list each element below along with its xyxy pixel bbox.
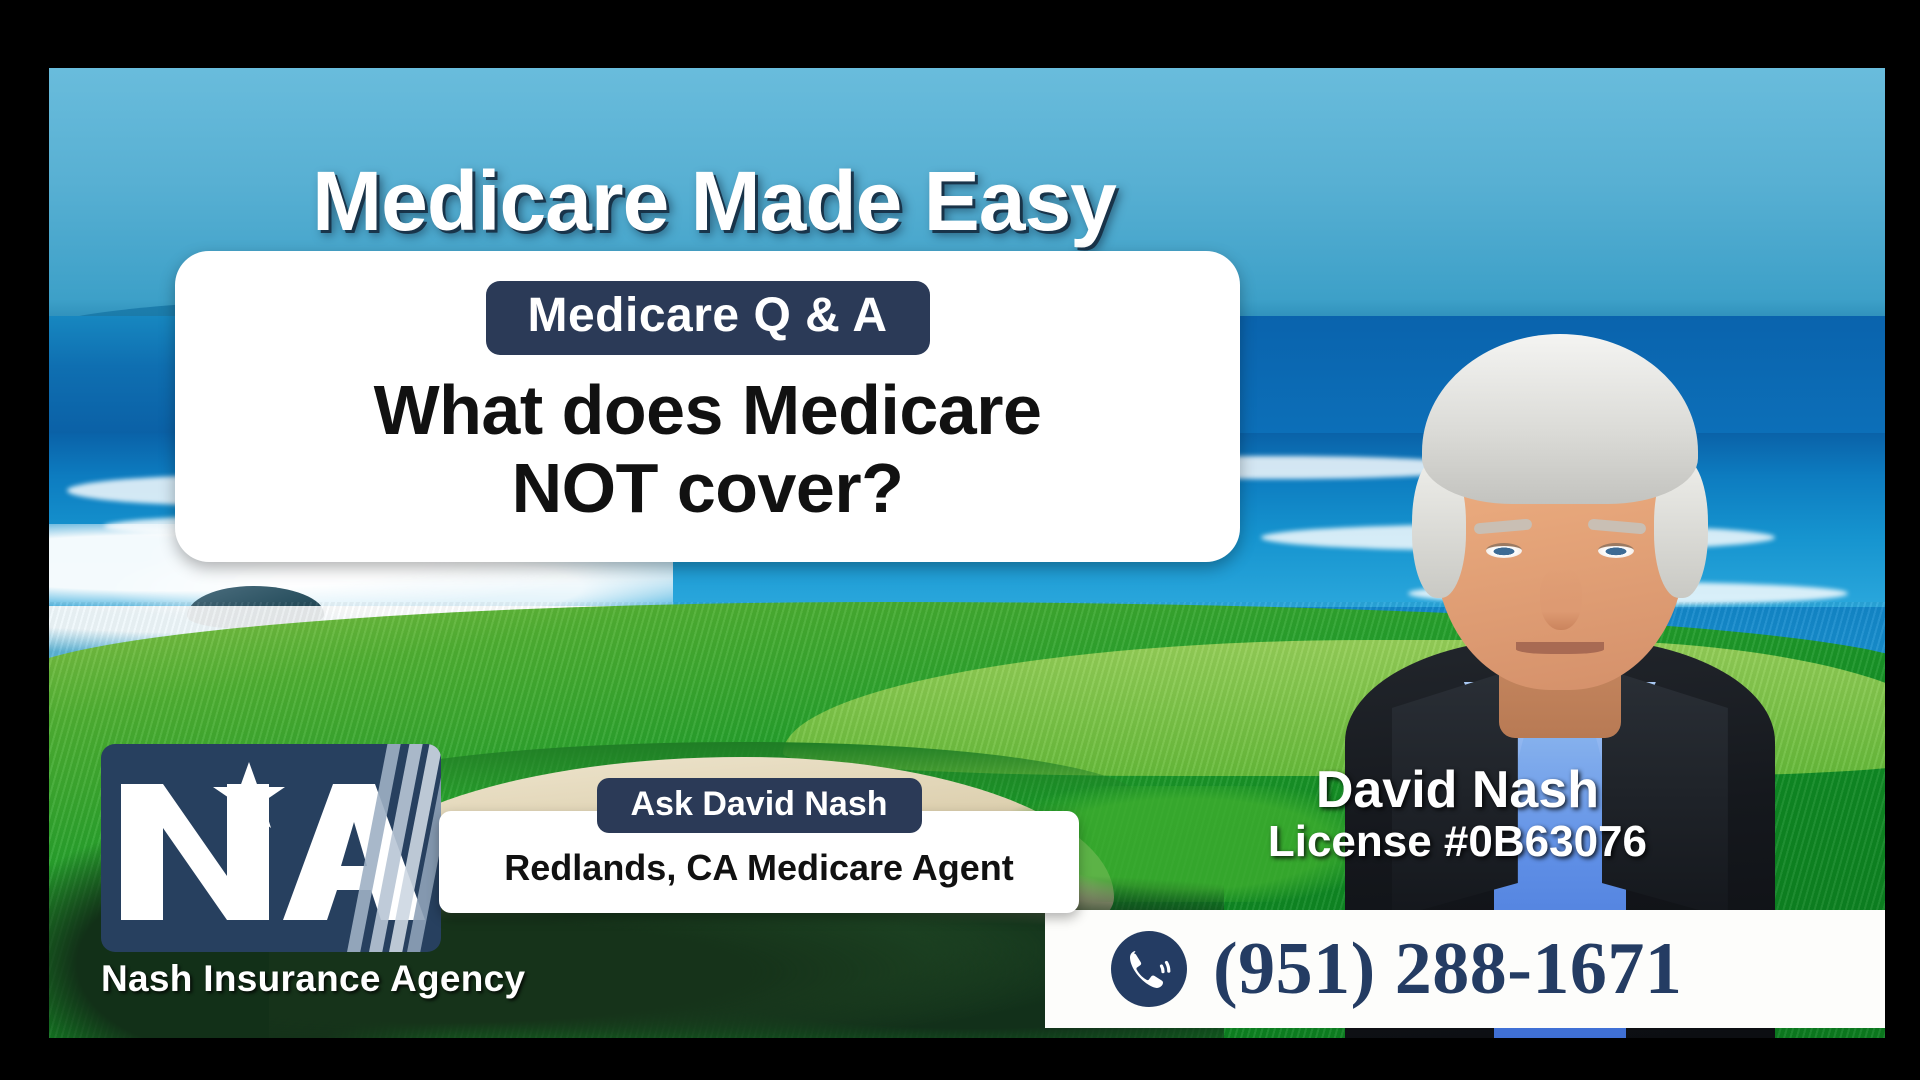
logo-mark: [101, 744, 441, 952]
agent-identity-block: David Nash License #0B63076: [1268, 763, 1647, 866]
video-frame: Medicare Made Easy Medicare Q & A What d…: [49, 68, 1885, 1038]
company-name: Nash Insurance Agency: [101, 958, 483, 1000]
phone-icon: [1109, 929, 1189, 1009]
phone-number[interactable]: (951) 288-1671: [1213, 927, 1682, 1012]
qa-badge: Medicare Q & A: [486, 281, 930, 355]
eye-left: [1486, 543, 1522, 558]
nose: [1540, 568, 1582, 630]
question-text: What does Medicare NOT cover?: [201, 371, 1214, 528]
company-logo: Nash Insurance Agency: [101, 744, 483, 1000]
question-line-2: NOT cover?: [201, 449, 1214, 527]
ask-badge: Ask David Nash: [597, 778, 922, 833]
phone-bar[interactable]: (951) 288-1671: [1045, 910, 1885, 1028]
screenshot-canvas: Medicare Made Easy Medicare Q & A What d…: [0, 0, 1920, 1080]
hair: [1422, 334, 1698, 504]
mouth: [1516, 642, 1604, 654]
agent-portrait: [1345, 138, 1775, 1038]
video-title: Medicare Made Easy: [154, 153, 1274, 250]
eye-right: [1598, 543, 1634, 558]
question-card: Medicare Q & A What does Medicare NOT co…: [175, 251, 1240, 562]
ask-agent-block: Ask David Nash Redlands, CA Medicare Age…: [439, 778, 1079, 935]
question-line-1: What does Medicare: [201, 371, 1214, 449]
agent-name: David Nash: [1268, 763, 1647, 818]
agent-license-number: License #0B63076: [1268, 818, 1647, 866]
